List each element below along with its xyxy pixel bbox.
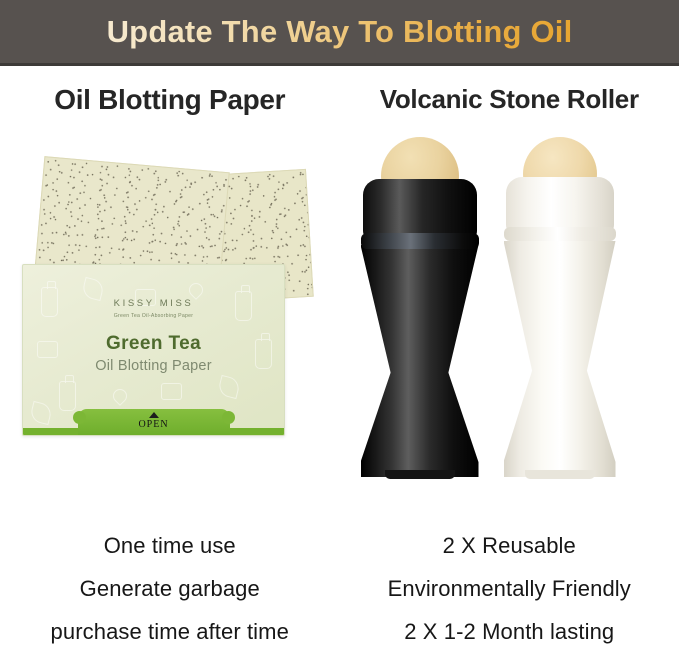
white-volcanic-roller [498, 137, 622, 477]
roller-ring-seam [361, 233, 479, 249]
column-oil-blotting-paper: Oil Blotting Paper [0, 66, 340, 651]
roller-base-foot [525, 470, 595, 479]
roller-upper-body [504, 241, 616, 373]
feature-item: One time use [104, 533, 236, 559]
roller-ring-seam [504, 227, 616, 241]
box-open-tab: OPEN [78, 409, 230, 435]
column-heading-left: Oil Blotting Paper [54, 84, 285, 116]
product-stage-right [340, 115, 679, 485]
feature-list-right: 2 X Reusable Environmentally Friendly 2 … [340, 533, 679, 645]
comparison-body: Oil Blotting Paper [0, 66, 679, 651]
roller-collar [363, 179, 477, 241]
box-brand-name: KISSY MISS [23, 298, 284, 309]
column-volcanic-stone-roller: Volcanic Stone Roller 2 X Reusable [340, 66, 679, 651]
box-product-subtitle: Oil Blotting Paper [23, 358, 284, 374]
triangle-up-icon [149, 412, 159, 418]
black-volcanic-roller [358, 137, 482, 477]
feature-list-left: One time use Generate garbage purchase t… [0, 533, 340, 645]
column-heading-right: Volcanic Stone Roller [380, 84, 639, 115]
feature-item: purchase time after time [51, 619, 289, 645]
page-title: Update The Way To Blotting Oil [107, 14, 573, 50]
feature-item: Generate garbage [80, 576, 260, 602]
roller-upper-body [361, 245, 479, 375]
roller-base-foot [385, 470, 455, 479]
header-banner: Update The Way To Blotting Oil [0, 0, 679, 66]
roller-lower-body [361, 371, 479, 477]
roller-lower-body [504, 369, 616, 477]
feature-item: 2 X Reusable [443, 533, 576, 559]
box-product-title: Green Tea [23, 333, 284, 355]
product-box-package: KISSY MISS Green Tea Oil-Absorbing Paper… [22, 264, 285, 436]
box-brand-subtitle: Green Tea Oil-Absorbing Paper [23, 313, 284, 319]
feature-item: Environmentally Friendly [388, 576, 631, 602]
feature-item: 2 X 1-2 Month lasting [404, 619, 614, 645]
product-stage-left: KISSY MISS Green Tea Oil-Absorbing Paper… [0, 116, 340, 486]
open-tab-label: OPEN [78, 419, 230, 430]
